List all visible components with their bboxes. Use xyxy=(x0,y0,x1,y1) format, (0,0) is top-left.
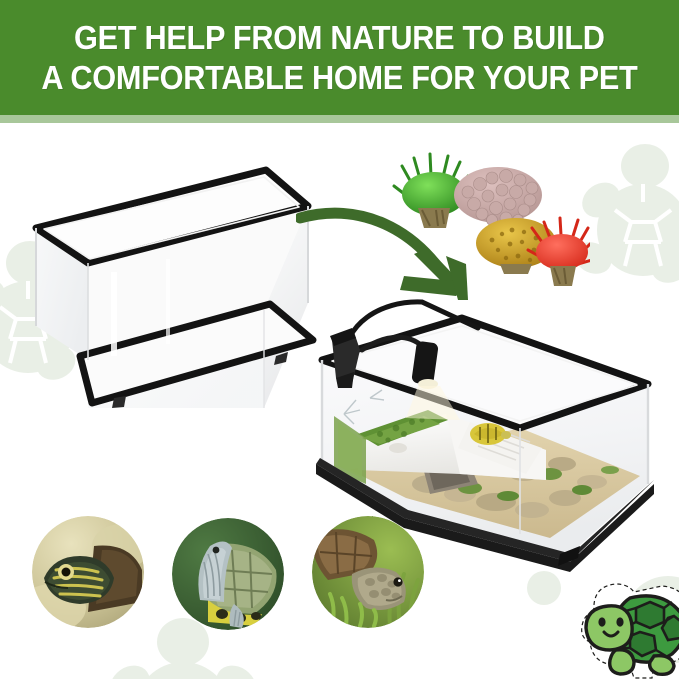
photo-map-turtle xyxy=(172,518,284,630)
headline-line-2: A COMFORTABLE HOME FOR YOUR PET xyxy=(41,58,637,98)
pink-pebble-cluster xyxy=(454,167,542,226)
product-infographic: GET HELP FROM NATURE TO BUILD A COMFORTA… xyxy=(0,0,679,679)
empty-tank xyxy=(18,160,328,410)
photo-tortoise-in-grass xyxy=(312,516,424,628)
banner-underline xyxy=(0,115,679,123)
aquarium-decorations-group xyxy=(380,140,590,300)
turtle-watermark-right xyxy=(575,138,679,288)
cartoon-turtle-sticker xyxy=(558,568,679,679)
headline-banner: GET HELP FROM NATURE TO BUILD A COMFORTA… xyxy=(0,0,679,115)
photo-red-eared-slider xyxy=(32,516,144,628)
headline-line-1: GET HELP FROM NATURE TO BUILD xyxy=(74,18,605,58)
